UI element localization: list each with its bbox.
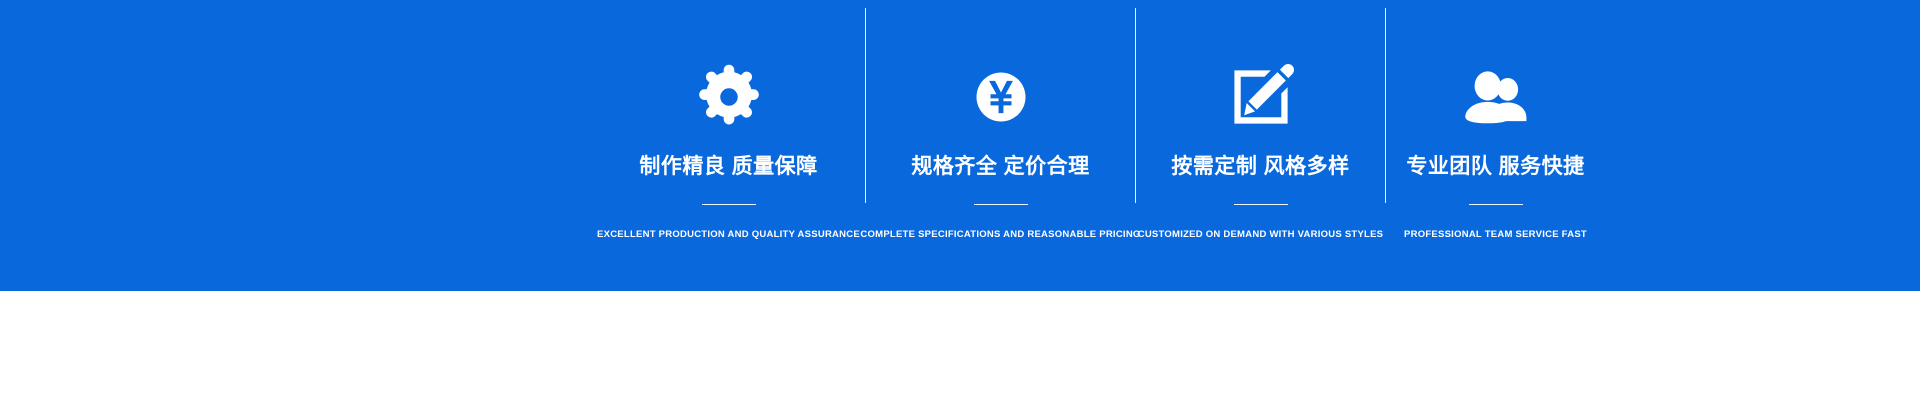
feature-item-production[interactable]: 制作精良 质量保障 EXCELLENT PRODUCTION AND QUALI…	[592, 0, 866, 291]
feature-title: 专业团队 服务快捷	[1406, 154, 1584, 179]
edit-pencil-icon	[1222, 58, 1300, 136]
users-icon	[1457, 58, 1535, 136]
feature-divider-rule	[1469, 204, 1523, 205]
feature-subtitle: CUSTOMIZED ON DEMAND WITH VARIOUS STYLES	[1138, 229, 1384, 241]
page-bottom-whitespace	[0, 291, 1920, 401]
gear-icon	[690, 58, 768, 136]
feature-list: 制作精良 质量保障 EXCELLENT PRODUCTION AND QUALI…	[0, 0, 1920, 291]
feature-subtitle: EXCELLENT PRODUCTION AND QUALITY ASSURAN…	[597, 229, 860, 241]
feature-item-team[interactable]: 专业团队 服务快捷 PROFESSIONAL TEAM SERVICE FAST	[1386, 0, 1606, 291]
feature-subtitle: COMPLETE SPECIFICATIONS AND REASONABLE P…	[860, 229, 1140, 241]
yen-circle-icon	[962, 58, 1040, 136]
feature-subtitle: PROFESSIONAL TEAM SERVICE FAST	[1404, 229, 1587, 241]
feature-item-pricing[interactable]: 规格齐全 定价合理 COMPLETE SPECIFICATIONS AND RE…	[866, 0, 1136, 291]
features-banner: 制作精良 质量保障 EXCELLENT PRODUCTION AND QUALI…	[0, 0, 1920, 291]
feature-divider-rule	[1234, 204, 1288, 205]
feature-title: 按需定制 风格多样	[1171, 154, 1349, 179]
feature-divider-rule	[974, 204, 1028, 205]
feature-title: 规格齐全 定价合理	[911, 154, 1089, 179]
feature-title: 制作精良 质量保障	[639, 154, 817, 179]
feature-divider-rule	[702, 204, 756, 205]
feature-item-customization[interactable]: 按需定制 风格多样 CUSTOMIZED ON DEMAND WITH VARI…	[1136, 0, 1386, 291]
